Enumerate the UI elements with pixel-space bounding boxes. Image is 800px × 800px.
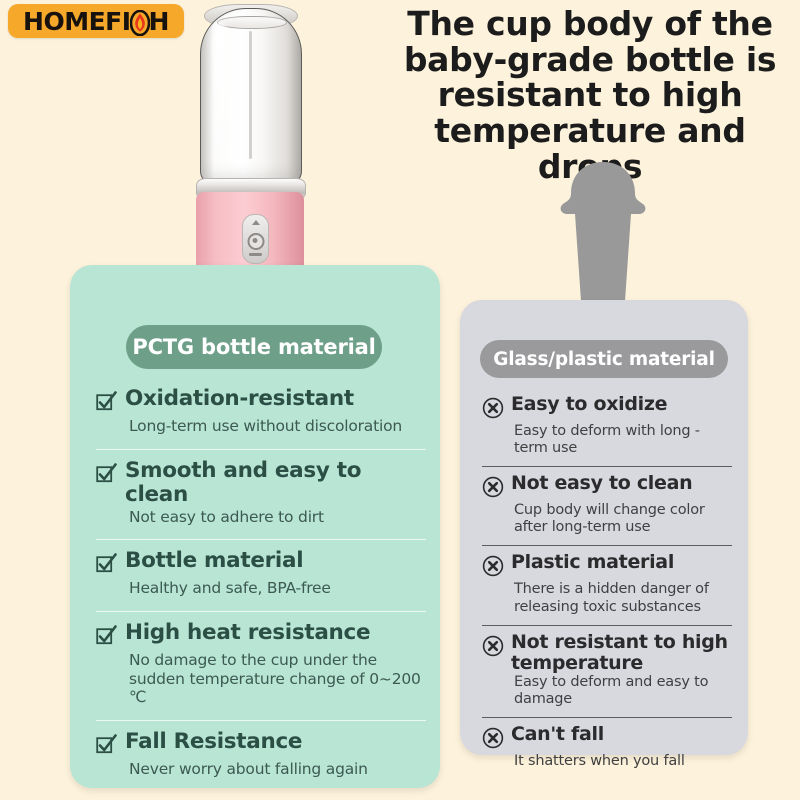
list-item-subtitle: It shatters when you fall xyxy=(514,753,732,770)
blender-cup-highlight-left xyxy=(213,23,226,163)
list-item-title: Plastic material xyxy=(511,552,674,573)
list-item-subtitle: Not easy to adhere to dirt xyxy=(129,508,426,527)
brand-logo-text: HOMEFI H xyxy=(23,8,169,34)
checkbox-checked-icon xyxy=(96,625,117,650)
list-item: Bottle material Healthy and safe, BPA-fr… xyxy=(96,539,426,607)
logo-text-part-4: H xyxy=(149,9,169,34)
list-item-subtitle: Easy to deform with long -term use xyxy=(514,423,732,457)
checkbox-checked-icon xyxy=(96,391,117,416)
list-item-subtitle: Long-term use without discoloration xyxy=(129,417,426,436)
blender-battery-indicator xyxy=(249,253,262,256)
headline-line-3: resistant to high xyxy=(390,77,790,113)
checkbox-checked-icon xyxy=(96,734,117,759)
list-item-subtitle: Easy to deform and easy to damage xyxy=(514,674,732,708)
blender-cup-highlight-center xyxy=(249,31,252,159)
blender-lid-seam xyxy=(217,16,287,29)
checkbox-checked-icon xyxy=(96,463,117,488)
list-item: Not easy to clean Cup body will change c… xyxy=(482,466,732,542)
flame-icon xyxy=(130,8,150,34)
circle-x-icon xyxy=(482,397,504,423)
list-item-subtitle: There is a hidden danger of releasing to… xyxy=(514,581,732,615)
list-item-title: Not resistant to high temperature xyxy=(511,632,732,675)
logo-text-part-1: H xyxy=(23,9,43,34)
glass-plastic-drawbacks-card: Glass/plastic material Easy to oxidize E… xyxy=(460,300,748,755)
blender-power-icon xyxy=(247,233,264,250)
circle-x-icon xyxy=(482,727,504,753)
list-item-title: High heat resistance xyxy=(125,621,370,645)
list-item-title: Fall Resistance xyxy=(125,730,302,754)
list-item-title: Oxidation-resistant xyxy=(125,387,354,411)
logo-text-part-2: OMEFI xyxy=(43,9,130,34)
blender-power-button-panel xyxy=(242,214,269,264)
list-item: Not resistant to high temperature Easy t… xyxy=(482,625,732,715)
pctg-advantages-card: PCTG bottle material Oxidation-resistant… xyxy=(70,265,440,788)
infographic-canvas: HOMEFI H The cup body of the baby-grade … xyxy=(0,0,800,800)
list-item-subtitle: No damage to the cup under the sudden te… xyxy=(129,651,426,707)
product-photo-portable-blender xyxy=(186,0,314,290)
pctg-feature-list: Oxidation-resistant Long-term use withou… xyxy=(96,387,426,787)
brand-logo: HOMEFI H xyxy=(8,4,184,38)
list-item-title: Bottle material xyxy=(125,549,303,573)
circle-x-icon xyxy=(482,635,504,661)
blender-cup xyxy=(200,8,302,185)
list-item-title: Smooth and easy to clean xyxy=(125,459,426,507)
headline: The cup body of the baby-grade bottle is… xyxy=(390,6,790,184)
list-item: Smooth and easy to clean Not easy to adh… xyxy=(96,449,426,536)
glass-plastic-drawback-list: Easy to oxidize Easy to deform with long… xyxy=(482,394,732,777)
glass-plastic-badge-label: Glass/plastic material xyxy=(493,349,715,370)
list-item-title: Can't fall xyxy=(511,724,604,745)
headline-line-2: baby-grade bottle is xyxy=(390,42,790,78)
list-item: High heat resistance No damage to the cu… xyxy=(96,611,426,716)
list-item: Easy to oxidize Easy to deform with long… xyxy=(482,394,732,463)
pctg-badge: PCTG bottle material xyxy=(126,325,382,369)
headline-line-1: The cup body of the xyxy=(390,6,790,42)
list-item: Can't fall It shatters when you fall xyxy=(482,717,732,776)
list-item: Oxidation-resistant Long-term use withou… xyxy=(96,387,426,445)
circle-x-icon xyxy=(482,555,504,581)
checkbox-checked-icon xyxy=(96,553,117,578)
list-item-subtitle: Cup body will change color after long-te… xyxy=(514,502,732,536)
list-item-subtitle: Never worry about falling again xyxy=(129,760,426,779)
circle-x-icon xyxy=(482,476,504,502)
pctg-badge-label: PCTG bottle material xyxy=(132,335,375,359)
blender-caret-indicator xyxy=(252,220,260,225)
list-item: Plastic material There is a hidden dange… xyxy=(482,545,732,621)
list-item-subtitle: Healthy and safe, BPA-free xyxy=(129,579,426,598)
list-item-title: Easy to oxidize xyxy=(511,394,667,415)
glass-plastic-badge: Glass/plastic material xyxy=(480,340,728,378)
list-item-title: Not easy to clean xyxy=(511,473,692,494)
list-item: Fall Resistance Never worry about fallin… xyxy=(96,720,426,788)
